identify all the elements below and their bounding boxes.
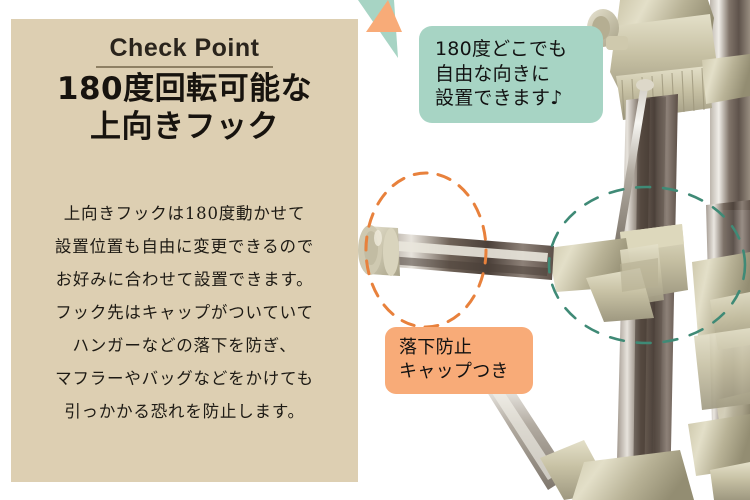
body-line: 上向きフックは180度動かせて bbox=[11, 197, 358, 230]
body-line: マフラーやバッグなどをかけても bbox=[11, 362, 358, 395]
end-cap bbox=[358, 225, 400, 276]
orange-callout-line-2: キャップつき bbox=[399, 360, 525, 384]
body-line: 設置位置も自由に変更できるので bbox=[11, 230, 358, 263]
orange-callout-label: 落下防止 キャップつき bbox=[385, 327, 533, 394]
body-line: 引っかかる恐れを防止します。 bbox=[11, 395, 358, 428]
green-callout-bubble: 180度どこでも 自由な向きに 設置できます♪ bbox=[419, 26, 603, 123]
kicker-wrap: Check Point bbox=[11, 34, 358, 68]
body-line: お好みに合わせて設置できます。 bbox=[11, 263, 358, 296]
orange-callout-text: 落下防止 キャップつき bbox=[399, 336, 525, 384]
body-copy: 上向きフックは180度動かせて 設置位置も自由に変更できるので お好みに合わせて… bbox=[11, 197, 358, 428]
text-panel: Check Point 180度回転可能な 上向きフック 上向きフックは180度… bbox=[11, 19, 358, 482]
check-point-kicker: Check Point bbox=[96, 34, 274, 68]
body-line: ハンガーなどの落下を防ぎ、 bbox=[11, 329, 358, 362]
headline-line-1: 180度回転可能な bbox=[57, 71, 312, 107]
orange-label-tail bbox=[358, 0, 402, 32]
promo-graphic: Check Point 180度回転可能な 上向きフック 上向きフックは180度… bbox=[0, 0, 750, 500]
body-line: フック先はキャップがついていて bbox=[11, 296, 358, 329]
headline-line-2: 上向きフック bbox=[11, 109, 358, 147]
green-callout-line-2: 自由な向きに bbox=[435, 62, 591, 87]
green-callout-line-3: 設置できます♪ bbox=[435, 86, 591, 111]
page-title: 180度回転可能な 上向きフック bbox=[11, 71, 358, 147]
green-callout-line-1: 180度どこでも bbox=[435, 37, 591, 62]
green-callout-text: 180度どこでも 自由な向きに 設置できます♪ bbox=[435, 37, 591, 111]
orange-callout-line-1: 落下防止 bbox=[399, 336, 525, 360]
